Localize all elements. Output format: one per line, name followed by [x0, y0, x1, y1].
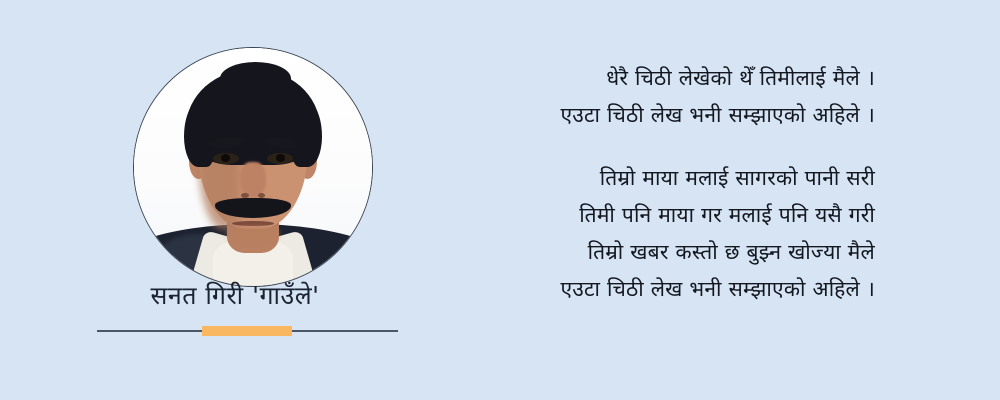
poem-line: एउटा चिठी लेख भनी सम्झाएको अहिले । — [470, 97, 875, 134]
portrait-chin-shadow — [227, 227, 279, 241]
portrait-hair-left — [184, 100, 215, 167]
poem-line: एउटा चिठी लेख भनी सम्झाएको अहिले । — [470, 271, 875, 308]
poem-line: तिम्रो माया मलाई सागरको पानी सरी — [470, 160, 875, 197]
author-divider-accent — [202, 326, 292, 336]
poem-stanza: धेरै चिठी लेखेको थेँ तिमीलाई मैले । एउटा… — [470, 60, 875, 134]
poem-line: धेरै चिठी लेखेको थेँ तिमीलाई मैले । — [470, 60, 875, 97]
author-divider — [97, 330, 398, 332]
author-block: सनत गिरी 'गाउँले' — [0, 0, 470, 400]
author-name: सनत गिरी 'गाउँले' — [0, 279, 470, 313]
poem-line: तिम्रो खबर कस्तो छ बुझ्न खोज्या मैले — [470, 234, 875, 271]
poem-text-block: धेरै चिठी लेखेको थेँ तिमीलाई मैले । एउटा… — [470, 60, 875, 308]
poem-line: तिमी पनि माया गर मलाई पनि यसै गरी — [470, 197, 875, 234]
poem-stanza: तिम्रो माया मलाई सागरको पानी सरी तिमी पन… — [470, 160, 875, 308]
author-portrait-photo — [134, 48, 372, 286]
portrait-hair-top — [220, 62, 291, 95]
poem-card: सनत गिरी 'गाउँले' धेरै चिठी लेखेको थेँ त… — [0, 0, 1000, 400]
author-portrait-frame — [133, 47, 373, 287]
